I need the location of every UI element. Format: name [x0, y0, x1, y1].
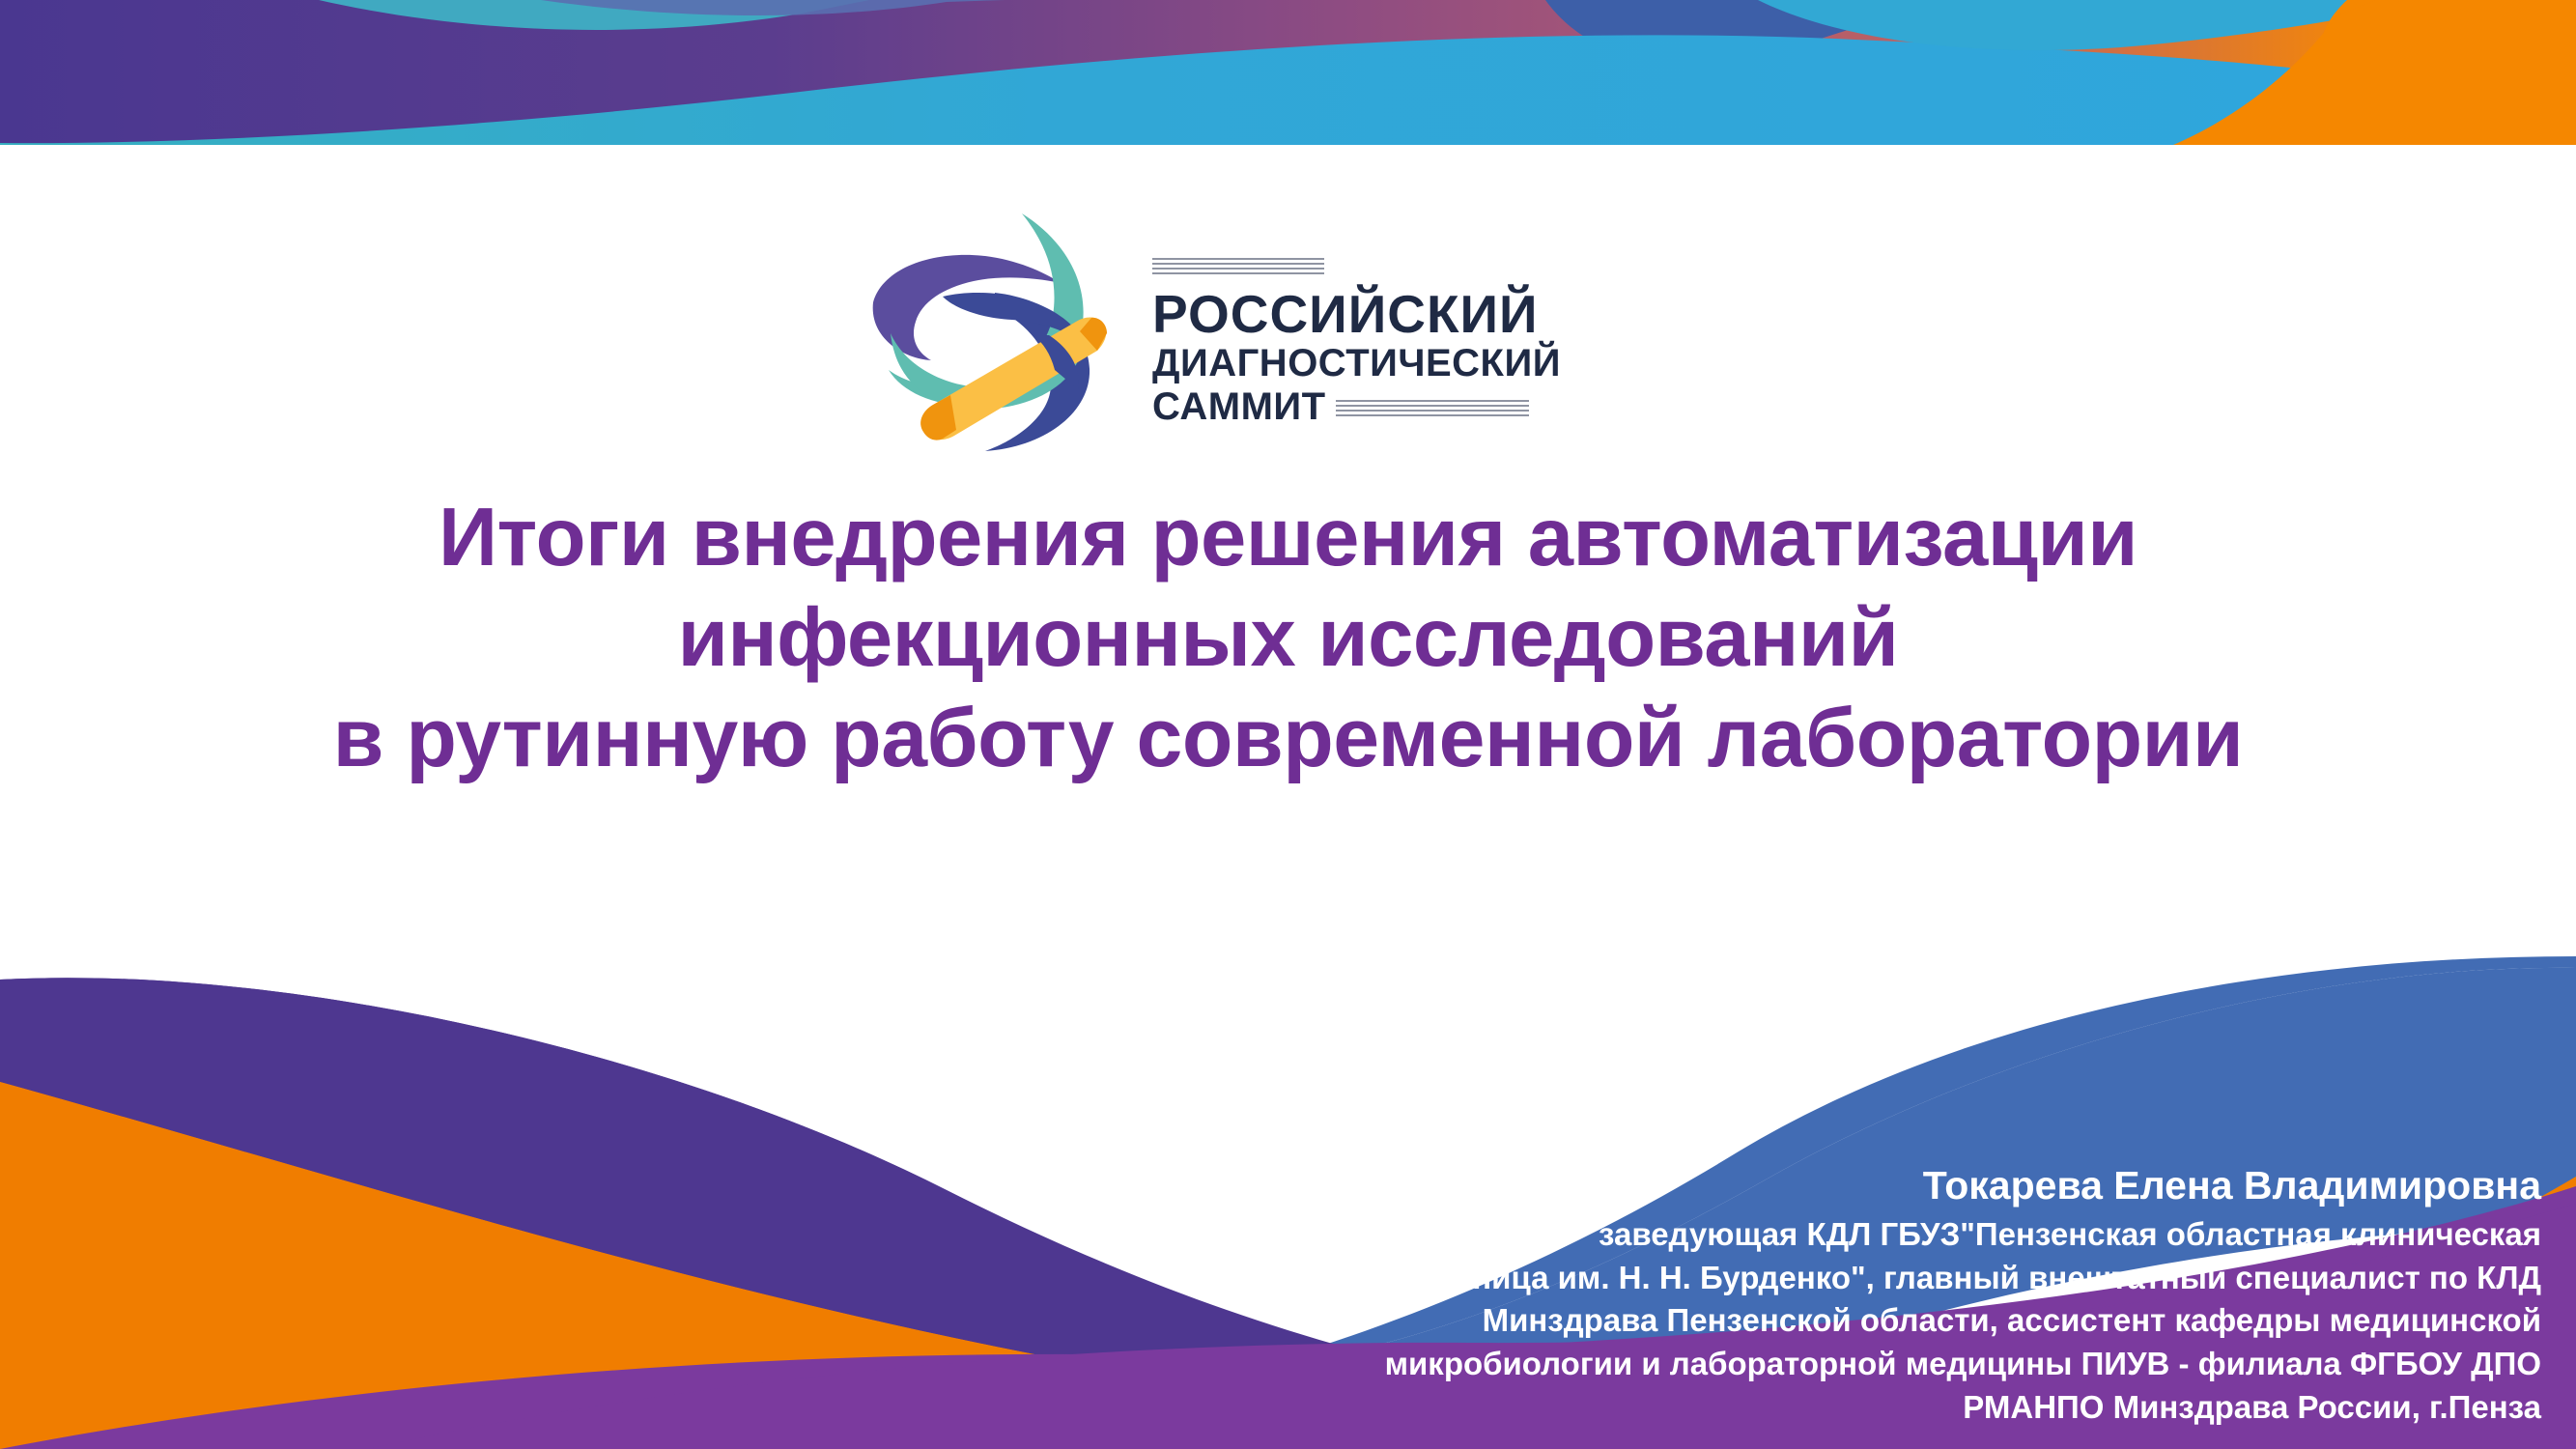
logo-text-line3: САММИТ	[1152, 385, 1326, 429]
top-wave-band	[0, 0, 2576, 145]
decorative-rules-right-icon	[1336, 397, 1529, 418]
slide-title: Итоги внедрения решения автоматизации ин…	[58, 488, 2518, 789]
logo-text-line1: РОССИЙСКИЙ	[1152, 286, 1561, 342]
affiliation-line-2: больница им. Н. Н. Бурденко", главный вн…	[957, 1257, 2541, 1300]
title-line-3: в рутинную работу современной лаборатори…	[58, 688, 2518, 789]
title-slide: РОССИЙСКИЙ ДИАГНОСТИЧЕСКИЙ САММИТ	[0, 0, 2576, 1449]
decorative-rules-top-icon	[1152, 257, 1324, 278]
conference-logo: РОССИЙСКИЙ ДИАГНОСТИЧЕСКИЙ САММИТ	[850, 198, 1526, 478]
affiliation-line-5: РМАНПО Минздрава России, г.Пенза	[957, 1386, 2541, 1430]
logo-wordmark: РОССИЙСКИЙ ДИАГНОСТИЧЕСКИЙ САММИТ	[1152, 247, 1561, 429]
logo-text-line2: ДИАГНОСТИЧЕСКИЙ	[1152, 342, 1561, 385]
affiliation-line-3: Минздрава Пензенской области, ассистент …	[957, 1299, 2541, 1343]
author-name: Токарева Елена Владимировна	[957, 1160, 2541, 1210]
author-affiliation-block: Токарева Елена Владимировна заведующая К…	[957, 1160, 2541, 1430]
affiliation-line-1: заведующая КДЛ ГБУЗ"Пензенская областная…	[957, 1213, 2541, 1257]
affiliation-line-4: микробиологии и лабораторной медицины ПИ…	[957, 1343, 2541, 1386]
summit-swirl-icon	[850, 208, 1125, 469]
title-line-1: Итоги внедрения решения автоматизации	[58, 488, 2518, 588]
title-line-2: инфекционных исследований	[58, 588, 2518, 689]
